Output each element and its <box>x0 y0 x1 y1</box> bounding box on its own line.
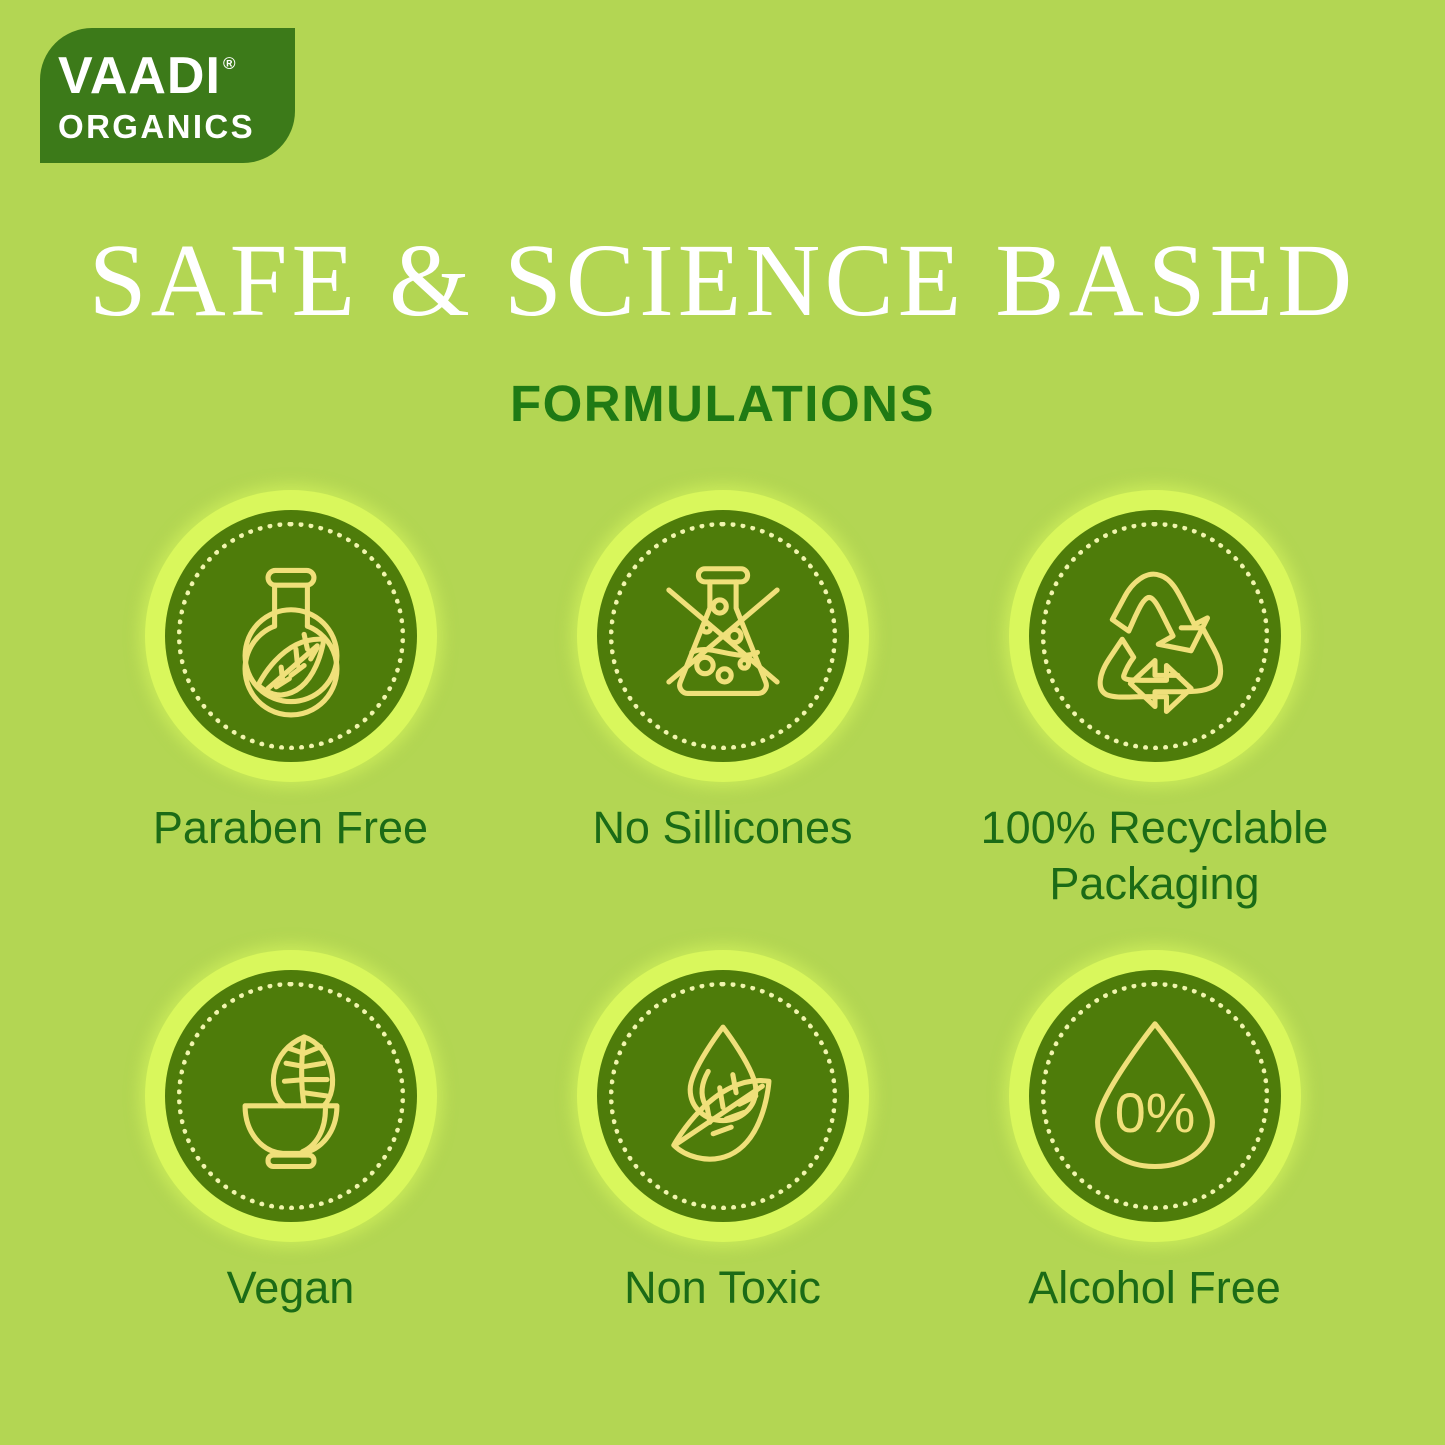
badge-item-recyclable-packaging: 100% Recyclable Packaging <box>939 490 1371 912</box>
flask-with-leaf-icon <box>209 554 373 718</box>
badge-ring <box>145 490 437 782</box>
badge-caption: Alcohol Free <box>1028 1260 1281 1316</box>
registered-trademark-icon: ® <box>223 55 236 72</box>
brand-logo-badge: VAADI® ORGANICS <box>40 28 295 163</box>
badge-caption: Non Toxic <box>624 1260 821 1316</box>
badge-ring <box>577 950 869 1242</box>
badge-ring <box>145 950 437 1242</box>
badge-caption: Vegan <box>227 1260 355 1316</box>
recycling-arrows-icon <box>1073 554 1237 718</box>
badge-caption: 100% Recyclable Packaging <box>981 800 1329 912</box>
badge-item-non-toxic: Non Toxic <box>507 950 939 1316</box>
crossed-out-erlenmeyer-flask-icon <box>641 554 805 718</box>
badge-item-vegan: Vegan <box>75 950 507 1316</box>
badge-ring <box>577 490 869 782</box>
badge-ring <box>1009 490 1301 782</box>
badge-disc <box>165 510 417 762</box>
badge-caption-line1: Non Toxic <box>624 1260 821 1316</box>
badge-item-alcohol-free: 0% Alcohol Free <box>939 950 1371 1316</box>
badge-caption-line1: Paraben Free <box>153 800 428 856</box>
brand-name: VAADI <box>58 50 221 102</box>
badge-caption-line1: 100% Recyclable <box>981 800 1329 856</box>
badge-caption-line2: Packaging <box>981 856 1329 912</box>
badge-disc <box>597 970 849 1222</box>
badge-caption-line1: Alcohol Free <box>1028 1260 1281 1316</box>
page-title: SAFE & SCIENCE BASED <box>0 226 1445 335</box>
badge-row-bottom: Vegan <box>0 950 1445 1316</box>
badge-item-no-sillicones: No Sillicones <box>507 490 939 856</box>
feature-badge-grid: Paraben Free <box>0 490 1445 1315</box>
badge-caption: No Sillicones <box>592 800 852 856</box>
badge-disc <box>1029 510 1281 762</box>
page-subtitle: FORMULATIONS <box>0 378 1445 429</box>
badge-disc: 0% <box>1029 970 1281 1222</box>
badge-item-paraben-free: Paraben Free <box>75 490 507 856</box>
badge-disc <box>597 510 849 762</box>
badge-row-top: Paraben Free <box>0 490 1445 912</box>
brand-name-row: VAADI® <box>58 50 295 102</box>
badge-caption-line1: No Sillicones <box>592 800 852 856</box>
badge-ring: 0% <box>1009 950 1301 1242</box>
badge-disc <box>165 970 417 1222</box>
bowl-with-leaf-icon <box>209 1014 373 1178</box>
brand-tagline: ORGANICS <box>58 110 295 143</box>
droplet-with-leaf-icon <box>641 1014 805 1178</box>
badge-caption-line1: Vegan <box>227 1260 355 1316</box>
droplet-zero-percent-icon: 0% <box>1073 1014 1237 1178</box>
badge-caption: Paraben Free <box>153 800 428 856</box>
droplet-percent-value: 0% <box>1114 1082 1195 1144</box>
